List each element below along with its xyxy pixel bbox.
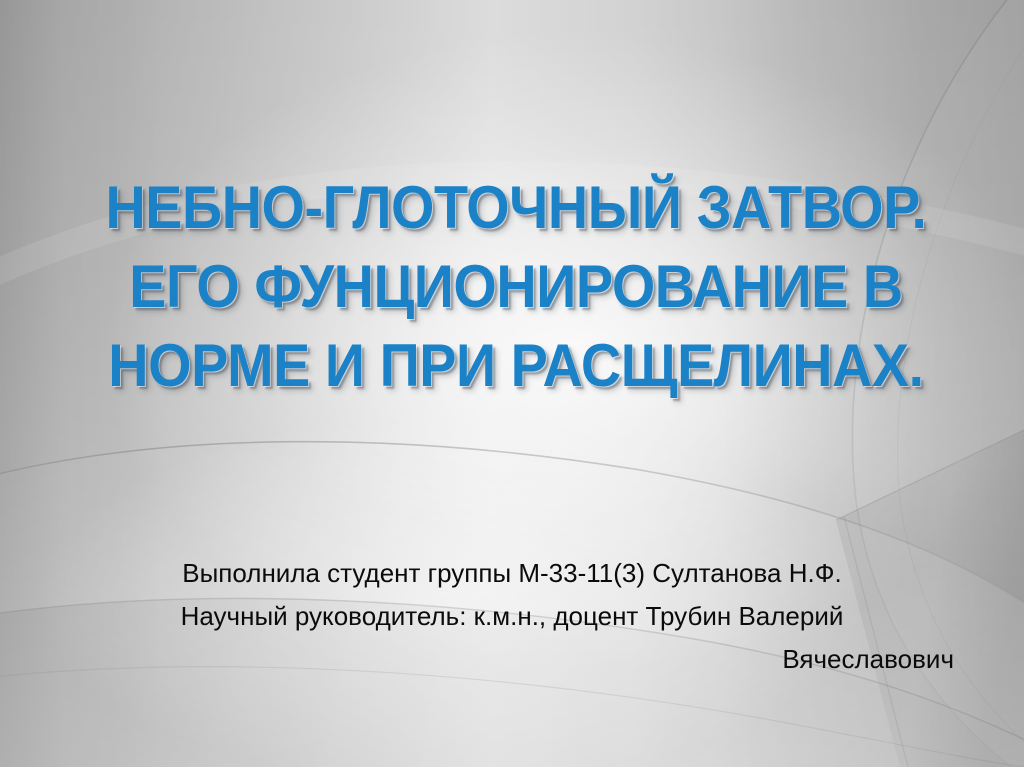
slide-subtitle: Выполнила студент группы М-33-11(3) Султ…: [70, 552, 954, 681]
presentation-slide: НЕБНО-ГЛОТОЧНЫЙ ЗАТВОР. ЕГО ФУНЦИОНИРОВА…: [0, 0, 1024, 767]
curve-bottom-arc-line: [0, 667, 1024, 767]
title-line-3: НОРМЕ И ПРИ РАСЩЕЛИНАХ.: [81, 326, 951, 405]
subtitle-line-supervisor-patronymic: Вячеславович: [70, 638, 954, 681]
subtitle-line-author: Выполнила студент группы М-33-11(3) Султ…: [70, 552, 954, 595]
curve-facet-top-line: [836, 430, 1024, 520]
slide-title: НЕБНО-ГЛОТОЧНЫЙ ЗАТВОР. ЕГО ФУНЦИОНИРОВА…: [48, 168, 984, 405]
subtitle-line-supervisor: Научный руководитель: к.м.н., доцент Тру…: [70, 595, 954, 638]
title-line-2: ЕГО ФУНЦИОНИРОВАНИЕ В: [81, 247, 951, 326]
title-line-1: НЕБНО-ГЛОТОЧНЫЙ ЗАТВОР.: [81, 168, 951, 247]
